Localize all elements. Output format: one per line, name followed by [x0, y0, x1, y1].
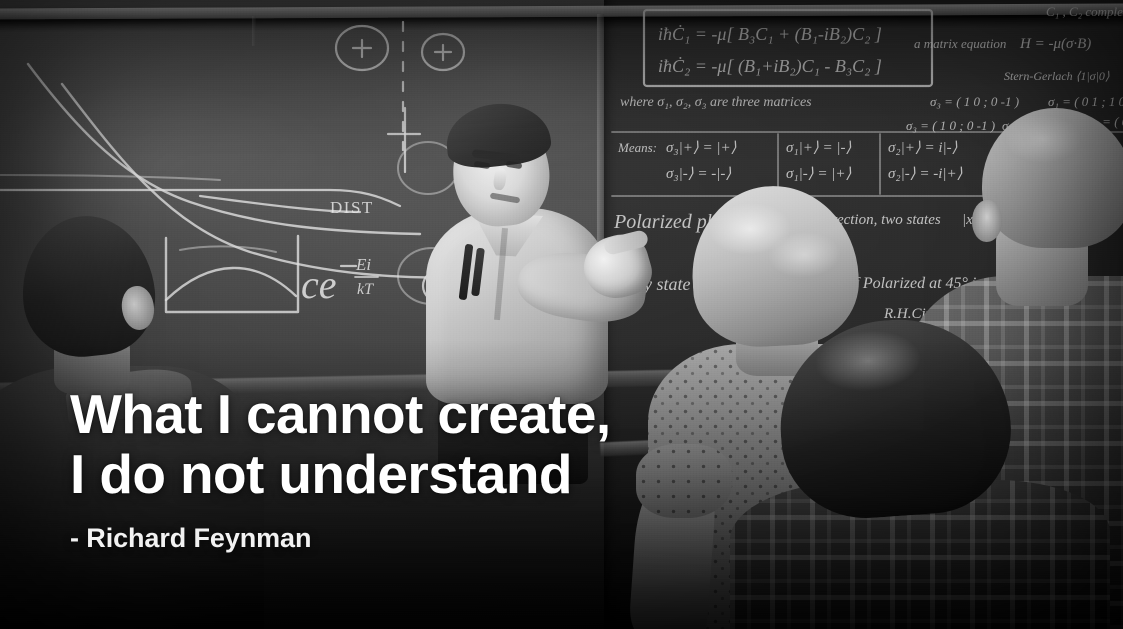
quote-attribution: - Richard Feynman: [70, 522, 750, 554]
quote-image-canvas: DIST ce Ei kT iħĊ₁: [0, 0, 1123, 629]
quote-line-2: I do not understand: [70, 444, 750, 504]
quote-line-1: What I cannot create,: [70, 384, 750, 444]
quote-overlay: What I cannot create, I do not understan…: [70, 384, 750, 554]
